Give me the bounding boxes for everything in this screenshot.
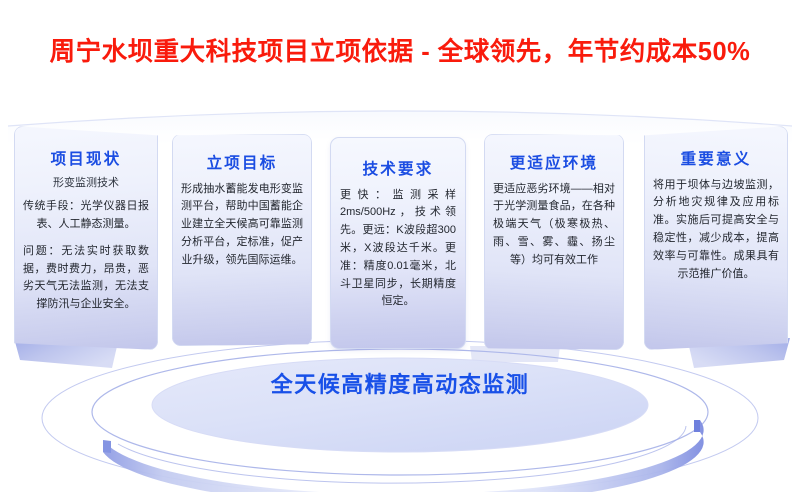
card-1-subtitle: 形变监测技术 xyxy=(23,177,149,190)
cards-stage: 项目现状 形变监测技术 传统手段：光学仪器日报表、人工静态测量。 问题：无法实时… xyxy=(0,112,800,362)
card-project-status[interactable]: 项目现状 形变监测技术 传统手段：光学仪器日报表、人工静态测量。 问题：无法实时… xyxy=(14,126,158,350)
card-5-heading: 重要意义 xyxy=(653,152,779,168)
ribbon-end-cap-right xyxy=(694,420,700,432)
card-project-goal[interactable]: 立项目标 形成抽水蓄能发电形变监测平台，帮助中国蓄能企业建立全天候高可靠监测分析… xyxy=(172,134,312,346)
center-banner-label: 全天候高精度高动态监测 xyxy=(0,374,800,396)
card-technical-requirements[interactable]: 技术要求 更快：监测采样2ms/500Hz，技术领先。更远：K波段超300米，X… xyxy=(330,137,466,349)
card-1-heading: 项目现状 xyxy=(23,152,149,168)
card-3-paragraph-1: 更快：监测采样2ms/500Hz，技术领先。更远：K波段超300米，X波段达千米… xyxy=(340,187,456,312)
card-1-paragraph-1: 传统手段：光学仪器日报表、人工静态测量。 xyxy=(23,198,149,234)
card-2-heading: 立项目标 xyxy=(181,156,303,172)
card-2-paragraph-1: 形成抽水蓄能发电形变监测平台，帮助中国蓄能企业建立全天候高可靠监测分析平台，定标… xyxy=(181,181,303,270)
card-3-heading: 技术要求 xyxy=(340,162,456,178)
ribbon-end-cap-left xyxy=(103,440,111,453)
slide-canvas: 周宁水坝重大科技项目立项依据 - 全球领先，年节约成本50% xyxy=(0,0,800,492)
card-4-paragraph-1: 更适应恶劣环境——相对于光学测量食品，在各种极端天气（极寒极热、雨、雪、雾、霾、… xyxy=(493,181,615,270)
card-4-heading: 更适应环境 xyxy=(493,156,615,172)
card-better-environment[interactable]: 更适应环境 更适应恶劣环境——相对于光学测量食品，在各种极端天气（极寒极热、雨、… xyxy=(484,134,624,350)
card-importance[interactable]: 重要意义 将用于坝体与边坡监测，分析地灾规律及应用标准。实施后可提高安全与稳定性… xyxy=(644,126,788,350)
card-5-paragraph-1: 将用于坝体与边坡监测，分析地灾规律及应用标准。实施后可提高安全与稳定性，减少成本… xyxy=(653,177,779,284)
card-1-paragraph-2: 问题：无法实时获取数据，费时费力，昂贵，恶劣天气无法监测，无法支撑防汛与企业安全… xyxy=(23,243,149,314)
